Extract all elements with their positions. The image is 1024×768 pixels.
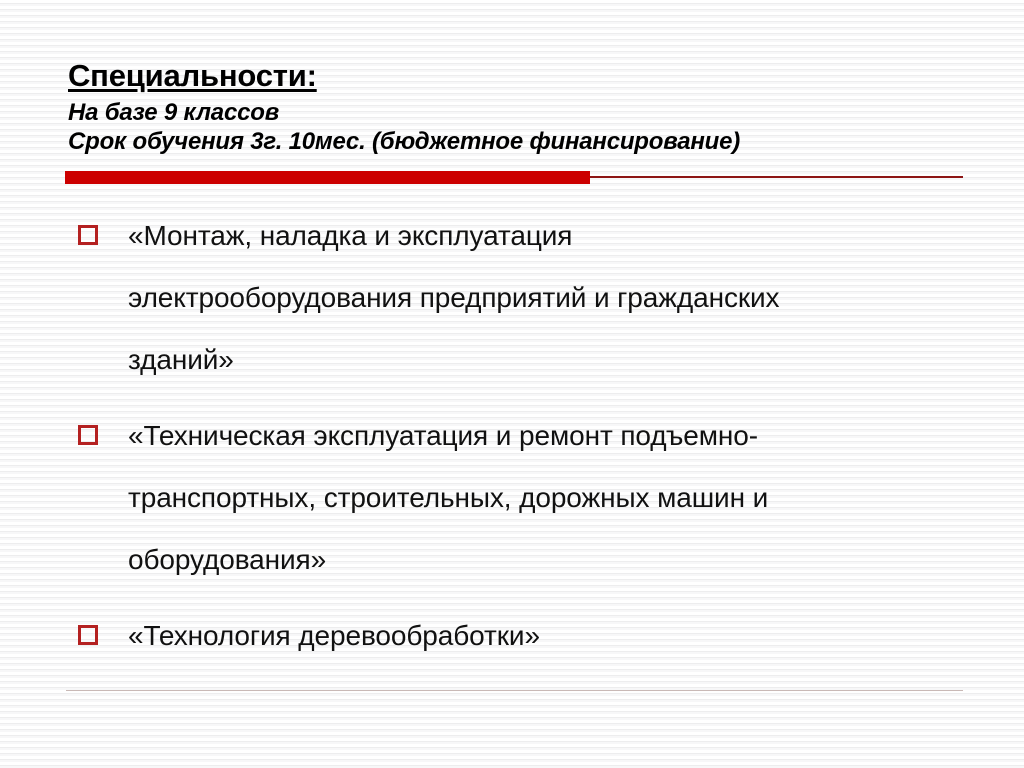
list-item-label: «Монтаж, наладка и эксплуатация электроо…: [128, 205, 828, 391]
subtitle-line-1: На базе 9 классов: [68, 98, 978, 127]
footer-rule: [66, 690, 963, 691]
accent-divider: [65, 171, 963, 184]
subtitle-line-2: Срок обучения 3г. 10мес. (бюджетное фина…: [68, 127, 978, 156]
divider-thick-bar: [65, 171, 590, 184]
list-item: «Монтаж, наладка и эксплуатация электроо…: [78, 205, 978, 391]
list-item: «Техническая эксплуатация и ремонт подъе…: [78, 405, 978, 591]
list-item-label: «Техническая эксплуатация и ремонт подъе…: [128, 405, 828, 591]
page-title: Специальности:: [68, 58, 978, 94]
square-outline-icon: [78, 625, 98, 645]
list-item: «Технология деревообработки»: [78, 605, 978, 667]
square-outline-icon: [78, 425, 98, 445]
square-outline-icon: [78, 225, 98, 245]
bullet-list: «Монтаж, наладка и эксплуатация электроо…: [78, 205, 978, 681]
slide-canvas: Специальности: На базе 9 классов Срок об…: [0, 0, 1024, 768]
slide-header: Специальности: На базе 9 классов Срок об…: [68, 58, 978, 156]
list-item-label: «Технология деревообработки»: [128, 605, 828, 667]
